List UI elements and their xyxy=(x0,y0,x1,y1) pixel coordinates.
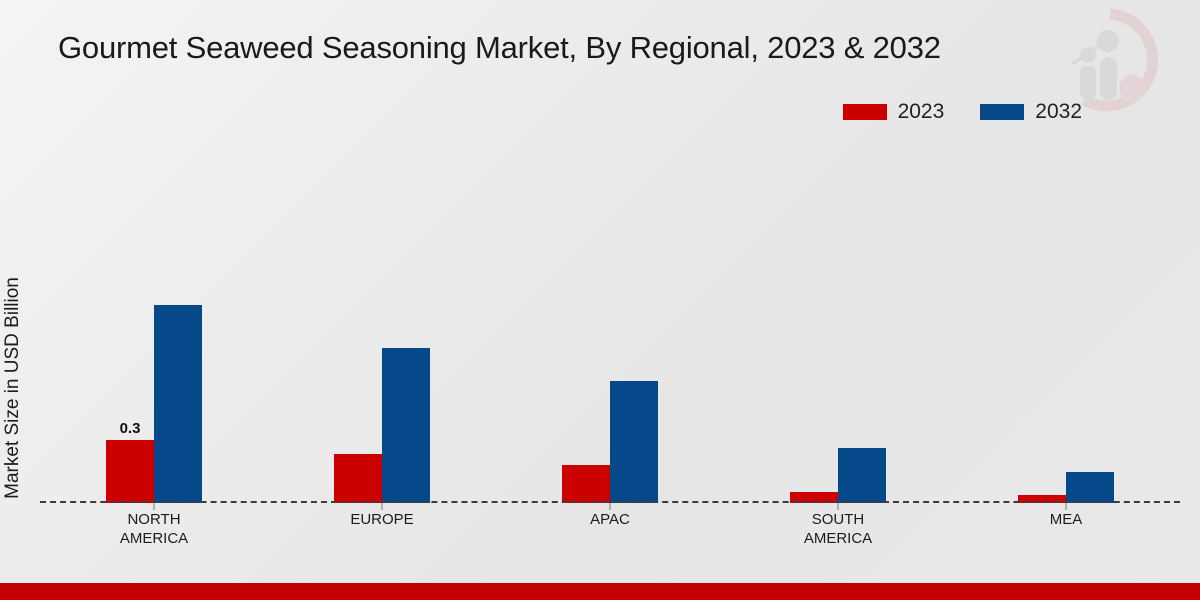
chart-title: Gourmet Seaweed Seasoning Market, By Reg… xyxy=(58,30,941,66)
bar-north-america-2023[interactable]: 0.3 xyxy=(106,440,154,503)
x-label-mea: MEA xyxy=(1050,510,1083,529)
legend-swatch-2023 xyxy=(843,104,887,120)
legend-item-2023[interactable]: 2023 xyxy=(843,101,945,122)
bar-europe-2023[interactable] xyxy=(334,454,382,503)
bar-south-america-2032[interactable] xyxy=(838,448,886,503)
chart-legend: 2023 2032 xyxy=(843,101,1082,122)
x-label-apac: APAC xyxy=(590,510,630,529)
bar-apac-2032[interactable] xyxy=(610,381,658,503)
x-label-north-america: NORTH AMERICA xyxy=(120,510,188,548)
bar-apac-2023[interactable] xyxy=(562,465,610,503)
y-axis-title: Market Size in USD Billion xyxy=(2,218,24,558)
x-label-line: AMERICA xyxy=(120,529,188,548)
bar-value-north-america-2023: 0.3 xyxy=(120,420,141,437)
x-tick-europe xyxy=(382,503,383,510)
plot-area: 0.3 NORTH AMERICA EUROPE xyxy=(40,140,1180,503)
bar-group-north-america: 0.3 NORTH AMERICA xyxy=(40,140,268,503)
x-label-line: NORTH xyxy=(120,510,188,529)
x-tick-apac xyxy=(610,503,611,510)
x-tick-south-america xyxy=(838,503,839,510)
legend-label-2023: 2023 xyxy=(898,101,945,122)
x-label-line: SOUTH xyxy=(804,510,872,529)
x-tick-north-america xyxy=(154,503,155,510)
bar-pair xyxy=(334,348,430,503)
x-tick-mea xyxy=(1066,503,1067,510)
bar-pair: 0.3 xyxy=(106,305,202,503)
bar-group-mea: MEA xyxy=(952,140,1180,503)
x-label-south-america: SOUTH AMERICA xyxy=(804,510,872,548)
bar-groups: 0.3 NORTH AMERICA EUROPE xyxy=(40,140,1180,503)
chart-figure: Gourmet Seaweed Seasoning Market, By Reg… xyxy=(0,0,1200,600)
legend-swatch-2032 xyxy=(980,104,1024,120)
bar-group-europe: EUROPE xyxy=(268,140,496,503)
x-label-line: APAC xyxy=(590,510,630,529)
legend-item-2032[interactable]: 2032 xyxy=(980,101,1082,122)
footer-accent-bar xyxy=(0,583,1200,600)
bar-group-south-america: SOUTH AMERICA xyxy=(724,140,952,503)
bar-pair xyxy=(790,448,886,503)
x-axis-baseline xyxy=(40,501,1180,503)
bar-europe-2032[interactable] xyxy=(382,348,430,503)
bar-pair xyxy=(1018,472,1114,503)
bar-mea-2032[interactable] xyxy=(1066,472,1114,503)
legend-label-2032: 2032 xyxy=(1035,101,1082,122)
x-label-line: MEA xyxy=(1050,510,1083,529)
x-label-europe: EUROPE xyxy=(350,510,413,529)
bar-north-america-2032[interactable] xyxy=(154,305,202,503)
x-label-line: AMERICA xyxy=(804,529,872,548)
bar-group-apac: APAC xyxy=(496,140,724,503)
x-label-line: EUROPE xyxy=(350,510,413,529)
bar-pair xyxy=(562,381,658,503)
market-research-logo-icon xyxy=(1058,8,1162,112)
